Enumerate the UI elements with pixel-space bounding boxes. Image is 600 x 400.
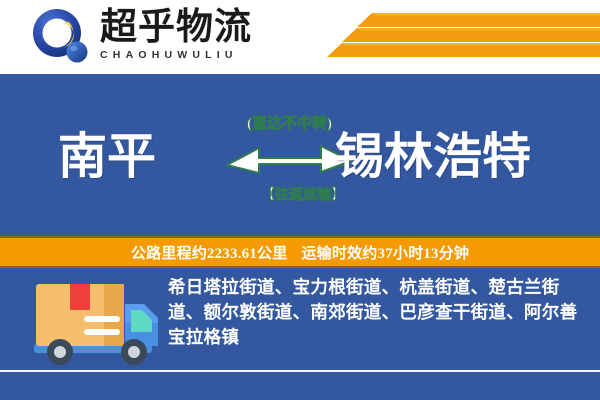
duration-text: 运输时效约37小时13分钟 — [301, 242, 469, 263]
logistics-route-poster: 超乎物流 CHAOHUWULIU 南平 (直达不中转) 【往返运 — [0, 0, 600, 400]
destination-city: 锡林浩特 — [335, 130, 531, 184]
route-info-bar: 公路里程约2233.61公里 运输时效约37小时13分钟 — [0, 236, 600, 268]
distance-text: 公路里程约2233.61公里 — [131, 242, 288, 263]
route-panel: 南平 (直达不中转) 【往返运输】 锡林浩特 — [0, 74, 600, 236]
origin-city: 南平 — [58, 130, 156, 184]
round-trip-note: 【往返运输】 — [243, 184, 363, 204]
coverage-street-list: 希日塔拉街道、宝力根街道、杭盖街道、楚古兰街道、额尔敦街道、南郊街道、巴彦查干街… — [168, 275, 584, 350]
ground-line — [0, 370, 600, 372]
delivery-truck-icon — [28, 276, 162, 370]
brand-text-block: 超乎物流 CHAOHUWULIU — [100, 8, 280, 66]
circle-crescent-logo-icon — [30, 8, 92, 66]
double-headed-arrow-icon — [225, 142, 353, 176]
brand-name-en: CHAOHUWULIU — [100, 49, 280, 61]
coverage-panel: 希日塔拉街道、宝力根街道、杭盖街道、楚古兰街道、额尔敦街道、南郊街道、巴彦查干街… — [0, 268, 600, 400]
orange-speed-stripes-icon — [310, 0, 600, 74]
info-bar-content: 公路里程约2233.61公里 运输时效约37小时13分钟 — [0, 238, 600, 266]
brand-name-cn: 超乎物流 — [100, 8, 280, 48]
poster-header: 超乎物流 CHAOHUWULIU — [0, 0, 600, 74]
